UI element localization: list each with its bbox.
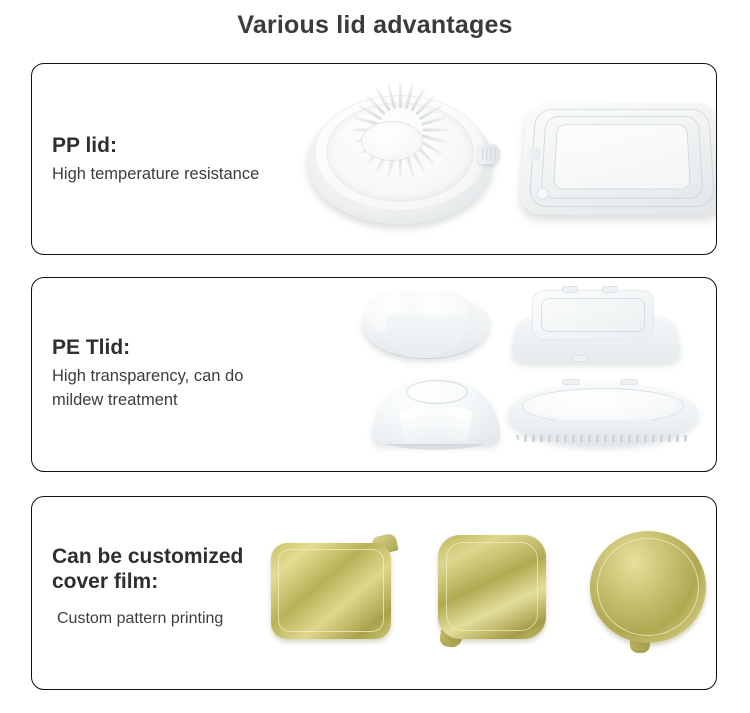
panel-pe-tlid-text: PE Tlid: High transparency, can do milde… <box>52 336 243 413</box>
oval-pet-lid-image <box>502 376 706 458</box>
panel-cover-film: Can be customized cover film: Custom pat… <box>31 496 717 690</box>
square-lid-clip-1 <box>562 286 578 293</box>
heart-pet-lid-image <box>352 286 502 372</box>
heart-lid-lobe-right <box>406 290 474 336</box>
round-pp-lid-image <box>301 86 506 236</box>
gold-rect-foil <box>271 543 391 639</box>
pp-lid-rib <box>375 88 391 112</box>
pp-lid-rib-pattern <box>326 102 474 202</box>
pp-lid-rib <box>353 116 379 126</box>
pp-lid-rib <box>410 88 426 112</box>
pp-lid-rib <box>399 82 402 108</box>
oval-lid-plate <box>508 382 698 444</box>
pp-lid-rib <box>365 144 386 165</box>
pp-lid-rib <box>358 140 382 156</box>
dome-lid-wedge-right <box>441 405 474 442</box>
pp-lid-rib <box>414 95 435 116</box>
pp-lid-rib <box>414 144 435 165</box>
dome-lid-dome <box>372 378 500 444</box>
pp-rect-ring-middle <box>540 116 703 199</box>
dome-lid-base <box>372 434 500 450</box>
gold-round-tab <box>630 635 650 653</box>
pp-lid-rib <box>353 134 379 144</box>
pp-lid-rib <box>418 140 442 156</box>
pp-lid-disc-base <box>307 100 493 224</box>
pp-rect-corner-notch <box>536 188 549 200</box>
panel-cover-film-subtext: Custom pattern printing <box>57 607 243 630</box>
square-lid-clip-2 <box>602 286 618 293</box>
gold-rect-tab <box>371 533 398 556</box>
pp-lid-rib <box>410 148 426 172</box>
gold-square-foil-lid-image <box>428 525 568 653</box>
pp-lid-disc-inner <box>326 102 474 202</box>
pp-rect-ring-outer <box>528 109 715 207</box>
panel-cover-film-heading: Can be customized cover film: <box>52 545 243 595</box>
panel-cover-film-text: Can be customized cover film: Custom pat… <box>52 545 243 630</box>
dome-pet-lid-image <box>364 374 510 458</box>
pp-lid-rib <box>352 129 378 132</box>
pp-rect-side-notch <box>525 146 542 161</box>
pp-lid-disc-rim <box>314 95 486 211</box>
heart-lid-tip <box>385 313 464 360</box>
pp-rect-ring-inner <box>553 124 691 189</box>
heart-lid-body <box>362 294 490 358</box>
gold-rectangular-foil-lid-image <box>265 529 405 649</box>
pp-lid-rib <box>365 95 386 116</box>
panel-pe-tlid: PE Tlid: High transparency, can do milde… <box>31 277 717 472</box>
pp-lid-rib <box>418 105 442 121</box>
pp-lid-rib <box>386 83 396 109</box>
square-pet-lid-image <box>510 284 686 372</box>
square-lid-top <box>532 290 654 340</box>
pp-lid-rib <box>421 116 447 126</box>
pp-lid-rib <box>404 151 414 177</box>
panel-pp-lid-subtext: High temperature resistance <box>52 163 259 187</box>
pp-lid-rib <box>422 129 448 132</box>
gold-square-foil <box>438 535 546 639</box>
page-title: Various lid advantages <box>0 11 750 40</box>
oval-lid-tab-1 <box>562 379 580 385</box>
pp-lid-tab <box>478 144 500 164</box>
square-lid-flange <box>509 316 683 362</box>
dome-lid-wedge-left <box>399 405 432 442</box>
pp-lid-rib <box>386 151 396 177</box>
pp-lid-rib <box>421 134 447 144</box>
panel-pe-tlid-subtext: High transparency, can do mildew treatme… <box>52 365 243 413</box>
panel-pe-tlid-heading: PE Tlid: <box>52 336 243 361</box>
pp-lid-rib <box>399 152 402 178</box>
gold-round-foil <box>590 531 706 643</box>
panel-pp-lid: PP lid: High temperature resistance <box>31 63 717 255</box>
square-lid-clip-3 <box>572 355 588 362</box>
panel-pp-lid-heading: PP lid: <box>52 134 259 159</box>
pp-lid-rib <box>404 83 414 109</box>
pp-rect-shell <box>518 103 717 215</box>
pp-lid-rib <box>358 105 382 121</box>
pp-lid-rib <box>375 148 391 172</box>
heart-lid-lobe-left <box>364 290 432 336</box>
panel-pp-lid-text: PP lid: High temperature resistance <box>52 134 259 187</box>
oval-lid-skirt <box>510 420 696 444</box>
pp-lid-center-hub <box>361 121 423 161</box>
oval-lid-tab-2 <box>620 379 638 385</box>
gold-round-foil-lid-image <box>578 523 717 655</box>
rectangular-pp-lid-image <box>517 88 717 236</box>
gold-square-tab <box>439 628 463 649</box>
heart-lid-rim <box>366 330 486 359</box>
